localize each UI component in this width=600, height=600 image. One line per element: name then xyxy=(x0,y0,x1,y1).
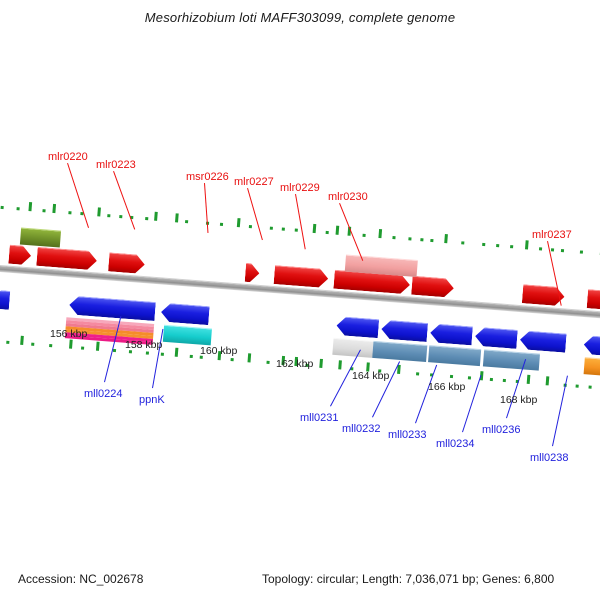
tick-mark xyxy=(416,372,419,375)
tick-mark xyxy=(420,238,423,241)
tick-mark xyxy=(490,378,493,381)
gene-arrow-reverse[interactable] xyxy=(0,289,10,309)
tick-mark xyxy=(231,358,234,361)
tick-mark xyxy=(98,207,102,216)
gene-arrow-reverse[interactable] xyxy=(381,319,428,341)
tick-mark xyxy=(444,234,448,243)
feature-box[interactable] xyxy=(20,228,61,248)
tick-mark xyxy=(266,361,269,364)
gene-arrow-forward[interactable] xyxy=(8,245,31,266)
scale-tick-label: 166 kbp xyxy=(428,381,465,393)
tick-mark xyxy=(430,239,433,242)
gene-arrow-reverse[interactable] xyxy=(160,303,209,326)
scale-tick-label: 168 kbp xyxy=(500,394,537,406)
tick-mark xyxy=(525,240,529,249)
genome-summary-label: Topology: circular; Length: 7,036,071 bp… xyxy=(262,572,554,586)
tick-mark xyxy=(175,348,179,357)
gene-arrow-forward[interactable] xyxy=(411,276,454,298)
tick-mark xyxy=(539,247,542,250)
gene-forward-leader-line xyxy=(247,188,263,240)
tick-mark xyxy=(338,360,342,369)
tick-mark xyxy=(146,351,149,354)
gene-reverse-label[interactable]: mll0224 xyxy=(84,388,123,400)
gene-arrow-forward[interactable] xyxy=(274,265,329,288)
tick-mark xyxy=(319,359,323,368)
tick-mark xyxy=(145,217,148,220)
gene-arrow-reverse[interactable] xyxy=(69,295,156,321)
tick-mark xyxy=(42,209,45,212)
gene-reverse-leader-line xyxy=(152,329,163,388)
feature-box[interactable] xyxy=(483,349,540,370)
tick-mark xyxy=(546,376,550,385)
feature-box[interactable] xyxy=(428,345,481,366)
tick-mark xyxy=(20,336,24,345)
genome-track xyxy=(0,268,598,315)
tick-mark xyxy=(119,215,122,218)
scale-tick-label: 158 kbp xyxy=(125,339,162,351)
gene-reverse-label[interactable]: mll0232 xyxy=(342,423,381,435)
gene-arrow-forward[interactable] xyxy=(245,263,260,283)
tick-mark xyxy=(462,241,465,244)
tick-mark xyxy=(160,353,163,356)
tick-mark xyxy=(154,212,158,221)
tick-mark xyxy=(468,376,471,379)
gene-forward-label[interactable]: mlr0230 xyxy=(328,191,368,203)
gene-reverse-label[interactable]: mll0234 xyxy=(436,438,475,450)
gene-forward-label[interactable]: mlr0237 xyxy=(532,229,572,241)
gene-reverse-label[interactable]: mll0233 xyxy=(388,429,427,441)
tick-mark xyxy=(7,341,10,344)
tick-mark xyxy=(561,249,564,252)
scale-tick-label: 164 kbp xyxy=(352,370,389,382)
tick-mark xyxy=(28,202,32,211)
tick-mark xyxy=(16,207,19,210)
tick-mark xyxy=(294,228,297,231)
tick-mark xyxy=(576,385,579,388)
tick-mark xyxy=(1,206,4,209)
tick-mark xyxy=(449,375,452,378)
tick-mark xyxy=(312,224,316,233)
scale-tick-label: 160 kbp xyxy=(200,345,237,357)
tick-mark xyxy=(52,204,56,213)
scale-tick-label: 156 kbp xyxy=(50,328,87,340)
gene-forward-label[interactable]: mlr0223 xyxy=(96,159,136,171)
tick-mark xyxy=(31,343,34,346)
scale-tick-label: 162 kbp xyxy=(276,358,313,370)
tick-mark xyxy=(249,225,252,228)
gene-forward-leader-line xyxy=(295,194,306,249)
tick-mark xyxy=(362,234,365,237)
gene-arrow-forward[interactable] xyxy=(108,252,145,274)
tick-mark xyxy=(81,346,84,349)
gene-arrow-reverse[interactable] xyxy=(583,335,600,357)
gene-arrow-reverse[interactable] xyxy=(519,330,566,352)
tick-mark xyxy=(95,342,99,351)
gene-reverse-label[interactable]: ppnK xyxy=(139,394,165,406)
gene-arrow-reverse[interactable] xyxy=(474,327,517,349)
tick-mark xyxy=(326,231,329,234)
tick-mark xyxy=(482,243,485,246)
tick-mark xyxy=(551,248,554,251)
tick-mark xyxy=(502,379,505,382)
gene-arrow-forward[interactable] xyxy=(36,247,97,271)
gene-forward-leader-line xyxy=(67,163,89,228)
feature-box[interactable] xyxy=(372,341,427,362)
tick-mark xyxy=(107,214,110,217)
tick-mark xyxy=(336,226,340,235)
gene-forward-leader-line xyxy=(113,171,135,230)
tick-mark xyxy=(496,244,499,247)
gene-arrow-forward[interactable] xyxy=(587,289,600,310)
tick-mark xyxy=(175,213,179,222)
gene-forward-label[interactable]: mlr0220 xyxy=(48,151,88,163)
gene-reverse-leader-line xyxy=(552,376,568,447)
tick-mark xyxy=(247,353,251,362)
tick-mark xyxy=(113,349,116,352)
tick-mark xyxy=(68,211,71,214)
tick-mark xyxy=(579,250,582,253)
gene-forward-label[interactable]: msr0226 xyxy=(186,171,229,183)
gene-reverse-label[interactable]: mll0238 xyxy=(530,452,569,464)
gene-arrow-reverse[interactable] xyxy=(336,316,379,338)
tick-mark xyxy=(409,237,412,240)
tick-mark xyxy=(526,375,530,384)
tick-mark xyxy=(270,227,273,230)
gene-reverse-label[interactable]: mll0231 xyxy=(300,412,339,424)
feature-box[interactable] xyxy=(584,357,600,378)
tick-mark xyxy=(281,227,284,230)
gene-arrow-reverse[interactable] xyxy=(430,323,473,345)
tick-mark xyxy=(69,340,73,349)
gene-reverse-label[interactable]: mll0236 xyxy=(482,424,521,436)
gene-forward-label[interactable]: mlr0229 xyxy=(280,182,320,194)
accession-label: Accession: NC_002678 xyxy=(18,572,143,586)
feature-box[interactable] xyxy=(332,338,373,358)
tick-mark xyxy=(510,245,513,248)
tick-mark xyxy=(236,218,240,227)
tick-mark xyxy=(378,229,382,238)
genome-viewer: Mesorhizobium loti MAFF303099, complete … xyxy=(0,0,600,600)
gene-forward-leader-line xyxy=(204,183,208,233)
page-title: Mesorhizobium loti MAFF303099, complete … xyxy=(0,10,600,25)
tick-mark xyxy=(190,355,193,358)
tick-mark xyxy=(392,236,395,239)
gene-forward-label[interactable]: mlr0227 xyxy=(234,176,274,188)
tick-mark xyxy=(50,344,53,347)
tick-mark xyxy=(185,220,188,223)
feature-box[interactable] xyxy=(163,325,212,346)
tick-mark xyxy=(589,386,592,389)
gene-forward-leader-line xyxy=(339,203,363,261)
tick-mark xyxy=(219,223,222,226)
